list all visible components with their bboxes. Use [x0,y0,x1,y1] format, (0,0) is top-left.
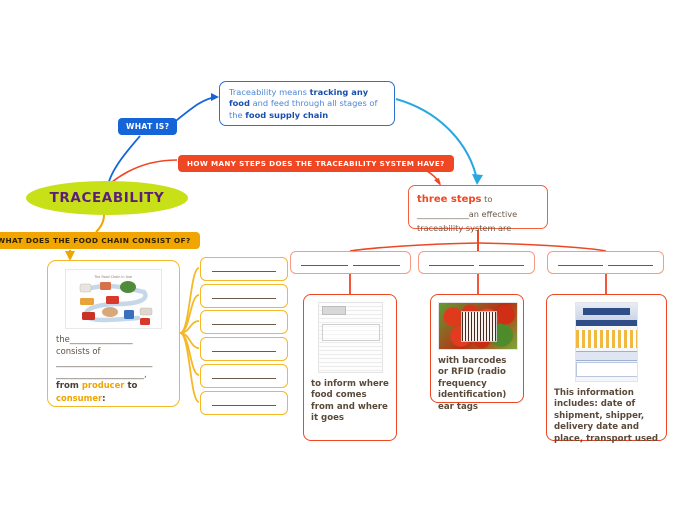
form-grid-band [576,330,637,349]
fc-to-label: to [124,381,137,391]
definition-bold-2: food supply chain [245,110,328,120]
step-header-1[interactable] [290,251,411,274]
barcode-overlay [461,311,497,342]
tomatoes-barcode-image [438,302,518,350]
central-node-label: TRACEABILITY [50,190,165,206]
step-card-3-caption: This information includes: date of shipm… [554,388,659,445]
blank-item-4[interactable] [200,337,288,361]
traceability-form-document-image [318,302,383,373]
fc-line1-blank: _______________ [70,334,133,344]
blank-item-1[interactable] [200,257,288,281]
step-card-1[interactable]: to inform where food comes from and wher… [303,294,397,441]
svg-text:The Food Chain in Use: The Food Chain in Use [93,275,132,279]
three-steps-line-1: three steps to [417,191,539,206]
three-steps-blank: ______________ [417,209,469,219]
step-header-rule-a [301,265,348,266]
blank-rule [212,271,276,272]
fc-line2: consists of [56,346,100,356]
three-steps-line-3-text: traceability system are [417,223,511,233]
blank-item-3[interactable] [200,310,288,334]
fc-colon: : [102,394,105,404]
food-chain-text: the_______________ consists of _________… [56,334,171,406]
tag-how-many-steps-label: HOW MANY STEPS DOES THE TRACEABILITY SYS… [187,159,445,168]
mindmap-canvas: TRACEABILITY WHAT IS? HOW MANY STEPS DOE… [0,0,697,520]
step-header-rule-a [429,265,474,266]
blank-item-2[interactable] [200,284,288,308]
form-row-band [576,351,637,361]
food-chain-box[interactable]: The Food Chain in Use the_______________ [47,260,180,407]
step-card-2-caption: with barcodes or RFID (radio frequency i… [438,356,516,413]
blank-rule [212,405,276,406]
step-header-rule-b [353,265,400,266]
blank-rule [212,378,276,379]
form-title-band [583,308,629,314]
form-subheader-band [576,322,637,327]
tag-food-chain-label: WHAT DOES THE FOOD CHAIN CONSIST OF? [0,236,191,245]
blank-rule [212,324,276,325]
three-steps-line-2: ______________an effective [417,206,539,221]
tag-how-many-steps[interactable]: HOW MANY STEPS DOES THE TRACEABILITY SYS… [178,155,454,172]
tag-what-is-label: WHAT IS? [126,122,169,131]
food-chain-diagram-image: The Food Chain in Use [65,269,162,329]
form-footer-band [576,362,638,376]
three-steps-highlight: three steps [417,194,482,205]
three-steps-after: to [482,194,493,204]
fc-line1-a: the [56,334,70,344]
fc-consumer: consumer [56,393,102,403]
shipment-record-form-image [575,302,638,382]
step-header-rule-b [608,265,653,266]
three-steps-box[interactable]: three steps to ______________an effectiv… [408,185,548,229]
fc-blank-1: _______________________ [56,357,152,367]
fc-from-label: from [56,381,82,391]
tag-what-is[interactable]: WHAT IS? [118,118,177,135]
blank-item-5[interactable] [200,364,288,388]
blank-item-6[interactable] [200,391,288,415]
blank-rule [212,351,276,352]
fc-blank-2: _____________________, [56,369,147,379]
blank-rule [212,298,276,299]
definition-part-1: Traceability means [229,87,310,97]
step-card-2[interactable]: with barcodes or RFID (radio frequency i… [430,294,524,403]
food-chain-illustration: The Food Chain in Use [66,270,161,328]
tag-food-chain-consist[interactable]: WHAT DOES THE FOOD CHAIN CONSIST OF? [0,232,200,249]
step-card-3[interactable]: This information includes: date of shipm… [546,294,667,441]
step-header-rule-b [479,265,524,266]
step-header-2[interactable] [418,251,535,274]
definition-text: Traceability means tracking any food and… [229,87,385,121]
three-steps-rest: an effective [469,209,517,219]
three-steps-line-3: traceability system are [417,220,539,235]
step-header-3[interactable] [547,251,664,274]
step-card-1-caption: to inform where food comes from and wher… [311,379,389,425]
fc-producer: producer [82,380,125,390]
central-node[interactable]: TRACEABILITY [26,181,188,215]
definition-box[interactable]: Traceability means tracking any food and… [219,81,395,126]
step-header-rule-a [558,265,603,266]
